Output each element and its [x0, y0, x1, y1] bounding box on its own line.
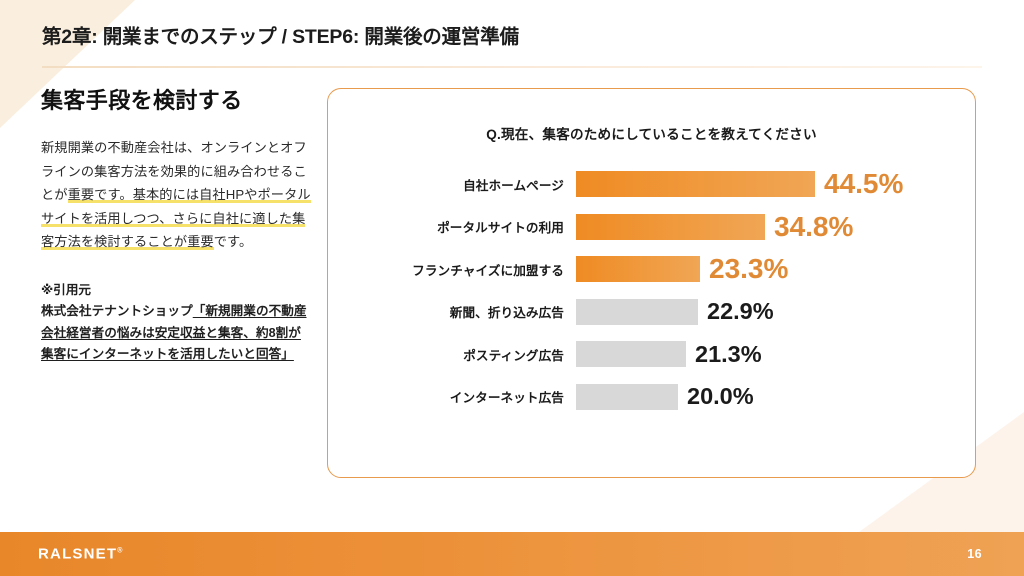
- slide-header: 第2章: 開業までのステップ / STEP6: 開業後の運営準備: [0, 0, 1024, 68]
- citation-label: ※引用元: [41, 280, 313, 300]
- chart-bar-wrapper: 21.3%: [576, 341, 975, 367]
- section-title: 集客手段を検討する: [41, 88, 313, 114]
- slide-root: 第2章: 開業までのステップ / STEP6: 開業後の運営準備 集客手段を検討…: [0, 0, 1024, 576]
- chart-row-label: インターネット広告: [328, 387, 576, 406]
- chart-bar: [576, 384, 678, 410]
- brand-logo: RALSNET®: [38, 546, 122, 563]
- page-number: 16: [967, 547, 982, 561]
- chart-row: ポスティング広告21.3%: [328, 333, 975, 376]
- chart-value-label: 44.5%: [815, 170, 903, 198]
- chart-row: ポータルサイトの利用34.8%: [328, 206, 975, 249]
- chart-value-label: 22.9%: [698, 300, 774, 324]
- paragraph-highlight-3: 重要: [187, 234, 214, 250]
- body-paragraph: 新規開業の不動産会社は、オンラインとオフラインの集客方法を効果的に組み合わせるこ…: [41, 136, 313, 254]
- citation-source: 株式会社テナントショップ: [41, 304, 193, 318]
- citation-text: 株式会社テナントショップ「新規開業の不動産会社経営者の悩みは安定収益と集客、約8…: [41, 301, 313, 366]
- chart-row-label: ポータルサイトの利用: [328, 217, 576, 236]
- chart-bar: [576, 214, 765, 240]
- chart-rows: 自社ホームページ44.5%ポータルサイトの利用34.8%フランチャイズに加盟する…: [328, 163, 975, 418]
- chart-value-label: 21.3%: [686, 343, 762, 367]
- left-content-column: 集客手段を検討する 新規開業の不動産会社は、オンラインとオフラインの集客方法を効…: [41, 88, 313, 366]
- paragraph-highlight-1: 重要です。: [68, 187, 133, 203]
- chart-bar-wrapper: 22.9%: [576, 299, 975, 325]
- chart-bar: [576, 171, 815, 197]
- citation-block: ※引用元 株式会社テナントショップ「新規開業の不動産会社経営者の悩みは安定収益と…: [41, 280, 313, 366]
- chart-title: Q.現在、集客のためにしていることを教えてください: [328, 123, 975, 143]
- chart-bar: [576, 256, 700, 282]
- paragraph-plain-2: です。: [214, 234, 253, 249]
- chart-bar-wrapper: 23.3%: [576, 255, 975, 283]
- chart-bar-wrapper: 44.5%: [576, 170, 975, 198]
- header-divider: [42, 66, 982, 68]
- chart-row-label: ポスティング広告: [328, 345, 576, 364]
- slide-footer: RALSNET® 16: [0, 532, 1024, 576]
- registered-trademark-icon: ®: [117, 548, 122, 555]
- chart-card: Q.現在、集客のためにしていることを教えてください 自社ホームページ44.5%ポ…: [327, 88, 976, 478]
- chart-bar: [576, 341, 686, 367]
- chart-row: 自社ホームページ44.5%: [328, 163, 975, 206]
- header-title: 第2章: 開業までのステップ / STEP6: 開業後の運営準備: [42, 20, 519, 49]
- chart-bar: [576, 299, 698, 325]
- brand-logo-text: RALSNET: [38, 546, 117, 563]
- chart-row: フランチャイズに加盟する23.3%: [328, 248, 975, 291]
- chart-value-label: 34.8%: [765, 213, 853, 241]
- chart-value-label: 23.3%: [700, 255, 788, 283]
- chart-bar-wrapper: 34.8%: [576, 213, 975, 241]
- chart-row-label: フランチャイズに加盟する: [328, 260, 576, 279]
- chart-row: 新聞、折り込み広告22.9%: [328, 291, 975, 334]
- chart-row: インターネット広告20.0%: [328, 376, 975, 419]
- chart-row-label: 新聞、折り込み広告: [328, 302, 576, 321]
- chart-row-label: 自社ホームページ: [328, 175, 576, 194]
- chart-value-label: 20.0%: [678, 385, 754, 409]
- chart-bar-wrapper: 20.0%: [576, 384, 975, 410]
